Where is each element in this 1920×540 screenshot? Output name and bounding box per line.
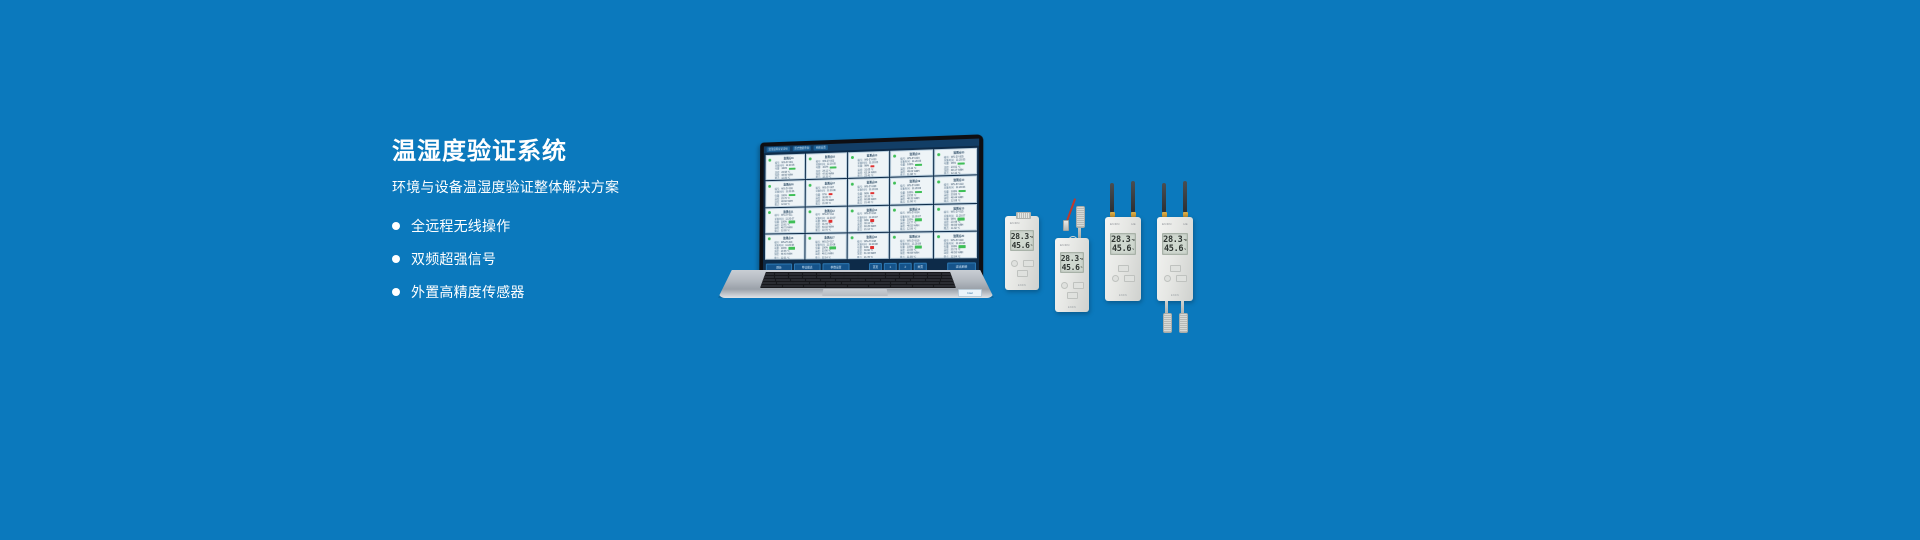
monitor-card-field: 露点:11.92 ℃	[944, 227, 974, 231]
status-dot-icon	[850, 237, 853, 240]
lcd-footer-label: RH	[1012, 250, 1032, 252]
field-value: 12.00 ℃	[781, 230, 790, 233]
device-power-button[interactable]	[1061, 282, 1068, 289]
status-dot-icon	[893, 209, 896, 212]
list-item: 全远程无线操作	[392, 216, 722, 236]
status-dot-icon	[937, 235, 940, 238]
keyboard-key[interactable]	[928, 273, 941, 275]
status-dot-icon	[809, 184, 812, 187]
keyboard-key[interactable]	[831, 276, 844, 278]
keyboard-key[interactable]	[831, 273, 844, 275]
monitor-card[interactable]: 监测点14编号:WS-ZY-014采集时间:11:20:07电量:100%温度:…	[890, 204, 933, 231]
field-key: 露点:	[900, 201, 905, 204]
keyboard-key[interactable]	[940, 282, 955, 284]
keyboard-key[interactable]	[900, 276, 913, 278]
device-body: ENDN 28.3 ℃ 45.6 % RH END	[1005, 216, 1039, 290]
monitor-card-field: 露点:21.78 ℃	[857, 256, 886, 259]
monitor-card-field: 露点:22.70 ℃	[815, 229, 843, 233]
field-key: 露点:	[774, 256, 779, 259]
lcd-temperature-unit: ℃	[1030, 233, 1033, 242]
monitor-card[interactable]: 监测点06编号:WS-ZY-006采集时间:11:20:06电量:100%温度:…	[765, 180, 805, 207]
keyboard-key[interactable]	[776, 279, 790, 281]
keyboard-key[interactable]	[858, 276, 871, 278]
field-key: 露点:	[775, 177, 780, 180]
field-value: 21.95 ℃	[822, 202, 831, 205]
device-body: ENDN HE 28.3 ℃ 45.6 % RH E	[1157, 217, 1193, 301]
field-key: 露点:	[857, 229, 862, 232]
monitor-card-field: 露点:11.96 ℃	[900, 200, 930, 204]
keyboard-key[interactable]	[886, 276, 899, 278]
field-key: 露点:	[900, 173, 905, 176]
monitor-card-field: 露点:11.88 ℃	[900, 173, 929, 177]
lcd-humidity-row: 45.6 %	[1112, 245, 1134, 254]
monitor-card-field: 露点:21.95 ℃	[816, 202, 844, 206]
field-value: 21.40 ℃	[864, 201, 873, 204]
monitor-card[interactable]: 监测点02编号:WS-ZY-002采集时间:11:20:05电量:100%温度:…	[806, 152, 847, 179]
field-key: 露点:	[857, 256, 862, 259]
monitor-card[interactable]: 监测点01编号:WS-ZY-001采集时间:11:20:05电量:100%温度:…	[765, 154, 805, 181]
keyboard-key[interactable]	[844, 276, 857, 278]
monitor-card[interactable]: 监测点16编号:WS-ZY-016采集时间:11:20:08电量:100%温度:…	[765, 234, 805, 260]
keyboard-key[interactable]	[866, 279, 880, 281]
status-dot-icon	[768, 238, 771, 241]
keyboard-key[interactable]	[789, 273, 802, 275]
monitor-card-field: 露点:12.05 ℃	[775, 176, 803, 180]
keyboard-key[interactable]	[942, 273, 955, 275]
field-value: 12.04 ℃	[951, 255, 961, 258]
device-function-button[interactable]	[1023, 260, 1034, 267]
banner-copy: 温湿度验证系统 环境与设备温湿度验证整体解决方案 全远程无线操作 双频超强信号 …	[392, 140, 722, 315]
field-key: 露点:	[944, 255, 950, 258]
keyboard-key[interactable]	[775, 273, 788, 275]
vent-icon	[1016, 212, 1031, 219]
field-value: 12.14 ℃	[822, 256, 831, 259]
status-dot-icon	[937, 153, 940, 156]
status-dot-icon	[893, 236, 896, 239]
field-key: 露点:	[944, 200, 950, 203]
status-dot-icon	[937, 208, 940, 211]
monitor-card[interactable]: 监测点04编号:WS-ZY-004采集时间:11:20:05电量:100%温度:…	[890, 149, 932, 177]
keyboard-key[interactable]	[848, 285, 869, 287]
status-dot-icon	[809, 157, 812, 160]
device-footer-label: ENDN	[1157, 294, 1193, 297]
keyboard-key[interactable]	[941, 279, 955, 281]
keyboard-row	[761, 276, 955, 278]
device-model: HE	[1183, 222, 1188, 226]
field-value: 22.70 ℃	[822, 229, 831, 232]
tab-history[interactable]: 历史数据查询	[793, 146, 812, 152]
device-button-row-2	[1157, 275, 1193, 282]
monitor-card-field: 露点:12.04 ℃	[944, 255, 974, 258]
device-lcd-display: 28.3 ℃ 45.6 % RH	[1110, 233, 1136, 255]
device-model: HE	[1131, 222, 1136, 226]
device-footer-label: ENDN	[1105, 294, 1141, 297]
keyboard-key[interactable]	[761, 279, 775, 281]
keyboard-row	[761, 282, 955, 284]
device-brand: ENDN	[1060, 243, 1070, 247]
field-key: 露点:	[775, 203, 780, 206]
field-key: 露点:	[944, 227, 950, 230]
device-button-row-2	[1005, 270, 1039, 277]
keyboard-key[interactable]	[817, 273, 830, 275]
lcd-humidity-value: 45.6	[1062, 264, 1080, 272]
banner-stage: 温湿度验证系统 环境与设备温湿度验证整体解决方案 全远程无线操作 双频超强信号 …	[0, 0, 1920, 540]
device-brand-row: ENDN	[1060, 243, 1084, 247]
device-power-button[interactable]	[1112, 275, 1119, 282]
keyboard-key[interactable]	[914, 276, 927, 278]
sensor-cable	[1066, 198, 1076, 221]
laptop-lid: 温湿度验证记录仪 历史数据查询 系统设置 监测点01编号:WS-ZY-001采集…	[759, 134, 983, 286]
status-dot-icon	[851, 182, 854, 185]
lcd-temperature-value: 28.3	[1011, 233, 1029, 241]
status-dot-icon	[893, 154, 896, 157]
keyboard-key[interactable]	[803, 273, 816, 275]
keyboard-key[interactable]	[783, 285, 804, 287]
keyboard-key[interactable]	[775, 276, 788, 278]
device-temp-humidity-logger: ENDN 28.3 ℃ 45.6 % RH END	[1005, 216, 1039, 290]
lcd-footer-label: RH	[1062, 272, 1082, 274]
status-dot-icon	[893, 181, 896, 184]
field-key: 露点:	[857, 174, 862, 177]
monitor-card[interactable]: 监测点18编号:WS-ZY-018采集时间:11:20:08电量:94%温度:3…	[847, 233, 889, 260]
monitor-card-field: 露点:12.08 ℃	[944, 199, 974, 203]
laptop-product-image: 温湿度验证记录仪 历史数据查询 系统设置 监测点01编号:WS-ZY-001采集…	[718, 138, 994, 298]
keyboard-key[interactable]	[907, 282, 922, 284]
list-item: 双频超强信号	[392, 249, 722, 269]
keyboard-key[interactable]	[869, 285, 890, 287]
keyboard-key[interactable]	[923, 282, 938, 284]
device-set-button[interactable]	[1124, 275, 1135, 282]
lcd-humidity-unit: %	[1081, 263, 1083, 272]
lcd-temperature-value: 28.3	[1061, 255, 1079, 263]
device-set-button[interactable]	[1017, 270, 1028, 277]
monitor-card[interactable]: 监测点10编号:WS-ZY-010采集时间:11:20:06电量:100%温度:…	[934, 176, 977, 204]
lcd-temperature-row: 28.3 ℃	[1062, 255, 1082, 264]
monitor-card-field: 露点:11.99 ℃	[900, 255, 930, 258]
keyboard-key[interactable]	[821, 279, 835, 281]
keyboard-key[interactable]	[836, 279, 850, 281]
monitor-card-field: 露点:21.40 ℃	[857, 201, 886, 205]
field-value: 11:20:05	[869, 161, 878, 164]
monitor-card[interactable]: 监测点20编号:WS-ZY-020采集时间:11:20:08电量:100%温度:…	[934, 231, 978, 258]
monitor-card[interactable]: 监测点03编号:WS-ZY-003采集时间:11:20:05电量:98%温度:3…	[848, 151, 890, 178]
device-body: ENDN 28.3 ℃ 45.6 % RH END	[1055, 238, 1089, 312]
status-dot-icon	[809, 210, 812, 213]
keyboard-key[interactable]	[761, 285, 782, 287]
keyboard-key[interactable]	[761, 276, 774, 278]
lcd-humidity-unit: %	[1184, 245, 1186, 254]
device-lcd-display: 28.3 ℃ 45.6 % RH	[1060, 252, 1084, 273]
device-button-row	[1105, 265, 1141, 272]
keyboard-key[interactable]	[891, 285, 912, 287]
monitor-card-field: 露点:12.06 ℃	[900, 228, 930, 232]
bullet-dot-icon	[392, 255, 400, 263]
bullet-dot-icon	[392, 222, 400, 230]
field-value: 11.99 ℃	[907, 255, 916, 258]
field-value: 11.88 ℃	[907, 173, 916, 176]
field-key: 露点:	[774, 230, 779, 233]
page-subtitle: 环境与设备温湿度验证整体解决方案	[392, 180, 722, 194]
field-value: 12.06 ℃	[907, 228, 916, 231]
monitor-card[interactable]: 监测点11编号:WS-ZY-011采集时间:11:20:07电量:100%温度:…	[765, 207, 805, 233]
laptop-touchpad[interactable]	[822, 289, 888, 296]
lcd-temperature-unit: ℃	[1183, 236, 1186, 245]
device-lcd-display: 28.3 ℃ 45.6 % RH	[1162, 233, 1188, 255]
device-body: ENDN HE 28.3 ℃ 45.6 % RH E	[1105, 217, 1141, 301]
lcd-temperature-unit: ℃	[1131, 236, 1134, 245]
status-dot-icon	[809, 237, 812, 240]
monitor-card-field: 露点:12.14 ℃	[815, 256, 843, 259]
lcd-humidity-value: 45.6	[1164, 245, 1183, 254]
exit-button[interactable]: 退出系统	[947, 262, 976, 271]
field-value: 12.33 ℃	[822, 175, 831, 178]
keyboard-key[interactable]	[872, 273, 885, 275]
device-button-row-2	[1055, 292, 1089, 299]
list-item: 外置高精度传感器	[392, 282, 722, 302]
device-wireless-logger-dual-probe: ENDN HE 28.3 ℃ 45.6 % RH E	[1157, 183, 1193, 301]
device-function-button[interactable]	[1170, 265, 1181, 272]
field-value: 21.12 ℃	[864, 228, 873, 231]
device-brand: ENDN	[1110, 222, 1120, 226]
device-brand: ENDN	[1162, 222, 1172, 226]
monitor-card[interactable]: 监测点07编号:WS-ZY-007采集时间:11:20:06电量:97%温度:3…	[806, 179, 847, 206]
monitor-card[interactable]: 监测点05编号:WS-ZY-005采集时间:11:20:05电量:99%温度:2…	[934, 148, 977, 176]
field-key: 露点:	[816, 176, 821, 179]
keyboard-key[interactable]	[858, 273, 871, 275]
field-value: 21.78 ℃	[864, 256, 873, 259]
keyboard-key[interactable]	[789, 276, 802, 278]
keyboard-key[interactable]	[793, 282, 808, 284]
monitor-card-field: 露点:12.00 ℃	[774, 229, 802, 233]
field-value: 11.96 ℃	[907, 200, 916, 203]
field-value: 12.08 ℃	[951, 199, 961, 202]
monitor-card-field: 露点:12.33 ℃	[816, 175, 844, 179]
keyboard-key[interactable]	[851, 279, 865, 281]
monitor-card[interactable]: 监测点15编号:WS-ZY-015采集时间:11:20:07电量:99%温度:2…	[934, 203, 977, 230]
keyboard-row	[761, 279, 955, 281]
device-button-row-2	[1105, 275, 1141, 282]
monitor-card-field: 露点:12.10 ℃	[944, 171, 974, 175]
field-key: 露点:	[815, 229, 820, 232]
device-brand-row: ENDN HE	[1110, 222, 1136, 226]
device-button-row	[1005, 260, 1039, 267]
lcd-humidity-row: 45.6 %	[1062, 263, 1082, 272]
monitor-card[interactable]: 监测点17编号:WS-ZY-017采集时间:11:20:08电量:100%温度:…	[806, 233, 847, 259]
laptop-base: Intel	[718, 270, 994, 298]
field-key: 露点:	[815, 256, 820, 259]
device-logger-with-probe: ENDN 28.3 ℃ 45.6 % RH END	[1055, 200, 1089, 312]
keyboard-key[interactable]	[886, 273, 899, 275]
monitor-card[interactable]: 监测点09编号:WS-ZY-009采集时间:11:20:06电量:100%温度:…	[890, 177, 933, 204]
keyboard-key[interactable]	[791, 279, 805, 281]
keyboard-key[interactable]	[858, 282, 873, 284]
antenna-icon-left	[1162, 183, 1166, 213]
keyboard-key[interactable]	[891, 282, 906, 284]
antenna-icon-right	[1183, 181, 1187, 213]
lcd-humidity-value: 45.6	[1112, 245, 1131, 254]
cable-connector	[1063, 220, 1069, 231]
status-dot-icon	[851, 209, 854, 212]
antenna-icon-right	[1131, 181, 1135, 213]
keyboard-key[interactable]	[881, 279, 895, 281]
field-key: 露点:	[944, 172, 950, 175]
device-brand-row: ENDN	[1010, 221, 1034, 225]
device-lcd-display: 28.3 ℃ 45.6 % RH	[1010, 230, 1034, 251]
keyboard-key[interactable]	[844, 273, 857, 275]
monitor-card-field: 露点:22.41 ℃	[857, 174, 886, 178]
field-key: 露点:	[900, 255, 905, 258]
status-dot-icon	[937, 180, 940, 183]
device-footer-label: ENDN	[1005, 284, 1039, 287]
device-wireless-logger: ENDN HE 28.3 ℃ 45.6 % RH E	[1105, 183, 1141, 301]
keyboard-key[interactable]	[826, 282, 841, 284]
keyboard-key[interactable]	[914, 273, 927, 275]
feature-list: 全远程无线操作 双频超强信号 外置高精度传感器	[392, 216, 722, 302]
probe-filter-icon	[1076, 206, 1085, 228]
keyboard-row	[761, 273, 955, 275]
device-power-button[interactable]	[1164, 275, 1171, 282]
keyboard-key[interactable]	[761, 282, 776, 284]
lcd-humidity-row: 45.6 %	[1164, 245, 1186, 254]
device-button-row	[1157, 265, 1193, 272]
keyboard-key[interactable]	[875, 282, 890, 284]
keyboard-row	[761, 285, 955, 287]
feature-label: 全远程无线操作	[411, 216, 510, 236]
lcd-humidity-unit: %	[1031, 241, 1033, 250]
field-key: 露点:	[857, 202, 862, 205]
keyboard-key[interactable]	[942, 276, 955, 278]
lcd-humidity-unit: %	[1132, 245, 1134, 254]
keyboard-key[interactable]	[926, 279, 940, 281]
probe-filter-icon-left	[1163, 313, 1172, 333]
monitor-card-field: 露点:12.02 ℃	[775, 203, 803, 207]
status-dot-icon	[768, 211, 771, 214]
keyboard-key[interactable]	[842, 282, 857, 284]
device-set-button[interactable]	[1176, 275, 1187, 282]
laptop-screen: 温湿度验证记录仪 历史数据查询 系统设置 监测点01编号:WS-ZY-001采集…	[763, 139, 979, 274]
tab-monitor[interactable]: 温湿度验证记录仪	[767, 146, 790, 152]
keyboard-key[interactable]	[913, 285, 934, 287]
keyboard-key[interactable]	[761, 273, 774, 275]
monitor-card[interactable]: 监测点19编号:WS-ZY-019采集时间:11:20:08电量:100%温度:…	[890, 232, 933, 259]
device-button-row	[1055, 282, 1089, 289]
monitor-card[interactable]: 监测点12编号:WS-ZY-012采集时间:11:20:07电量:95%温度:3…	[806, 206, 847, 233]
page-title: 温湿度验证系统	[392, 140, 722, 164]
keyboard-key[interactable]	[804, 285, 825, 287]
device-power-button[interactable]	[1011, 260, 1018, 267]
lcd-humidity-value: 45.6	[1012, 242, 1030, 250]
probe-filter-icon-right	[1179, 313, 1188, 333]
bullet-dot-icon	[392, 288, 400, 296]
monitor-card[interactable]: 监测点13编号:WS-ZY-013采集时间:11:20:07电量:98%温度:3…	[848, 205, 890, 232]
keyboard-key[interactable]	[872, 276, 885, 278]
keyboard-key[interactable]	[928, 276, 941, 278]
keyboard-key[interactable]	[911, 279, 925, 281]
field-value: 22.41 ℃	[864, 174, 873, 177]
antenna-icon-left	[1110, 183, 1114, 213]
device-footer-label: ENDN	[1055, 306, 1089, 309]
feature-label: 外置高精度传感器	[411, 282, 525, 302]
keyboard-key[interactable]	[826, 285, 847, 287]
field-key: 露点:	[900, 228, 905, 231]
keyboard-key[interactable]	[934, 285, 955, 287]
pagination-last[interactable]: 末页	[914, 262, 927, 271]
device-function-button[interactable]	[1073, 282, 1084, 289]
status-dot-icon	[851, 155, 854, 158]
status-dot-icon	[768, 185, 771, 188]
field-value: 12.02 ℃	[781, 203, 790, 206]
keyboard-key[interactable]	[817, 276, 830, 278]
device-function-button[interactable]	[1118, 265, 1129, 272]
keyboard-key[interactable]	[803, 276, 816, 278]
keyboard-key[interactable]	[806, 279, 820, 281]
lcd-temperature-unit: ℃	[1080, 255, 1083, 264]
status-dot-icon	[768, 158, 771, 161]
tab-settings[interactable]: 系统设置	[814, 145, 828, 150]
field-value: 12.10 ℃	[951, 172, 961, 176]
field-value: 12.01 ℃	[781, 256, 790, 259]
field-value: 12.05 ℃	[781, 177, 790, 180]
device-set-button[interactable]	[1067, 292, 1078, 299]
keyboard-key[interactable]	[777, 282, 792, 284]
device-brand: ENDN	[1010, 221, 1020, 225]
intel-sticker: Intel	[958, 289, 982, 297]
monitor-card-grid: 监测点01编号:WS-ZY-001采集时间:11:20:05电量:100%温度:…	[763, 146, 979, 262]
monitor-card-field: 露点:12.01 ℃	[774, 256, 802, 259]
laptop-keyboard[interactable]	[760, 272, 956, 288]
field-key: 露点:	[816, 202, 821, 205]
keyboard-key[interactable]	[810, 282, 825, 284]
keyboard-key[interactable]	[900, 273, 913, 275]
monitor-card-field: 露点:21.12 ℃	[857, 228, 886, 232]
lcd-humidity-row: 45.6 %	[1012, 241, 1032, 250]
keyboard-key[interactable]	[896, 279, 910, 281]
field-value: 11.92 ℃	[951, 227, 960, 230]
monitor-card[interactable]: 监测点08编号:WS-ZY-008采集时间:11:20:06电量:96%温度:3…	[848, 178, 890, 205]
lcd-temperature-row: 28.3 ℃	[1012, 233, 1032, 242]
feature-label: 双频超强信号	[411, 249, 496, 269]
device-brand-row: ENDN HE	[1162, 222, 1188, 226]
